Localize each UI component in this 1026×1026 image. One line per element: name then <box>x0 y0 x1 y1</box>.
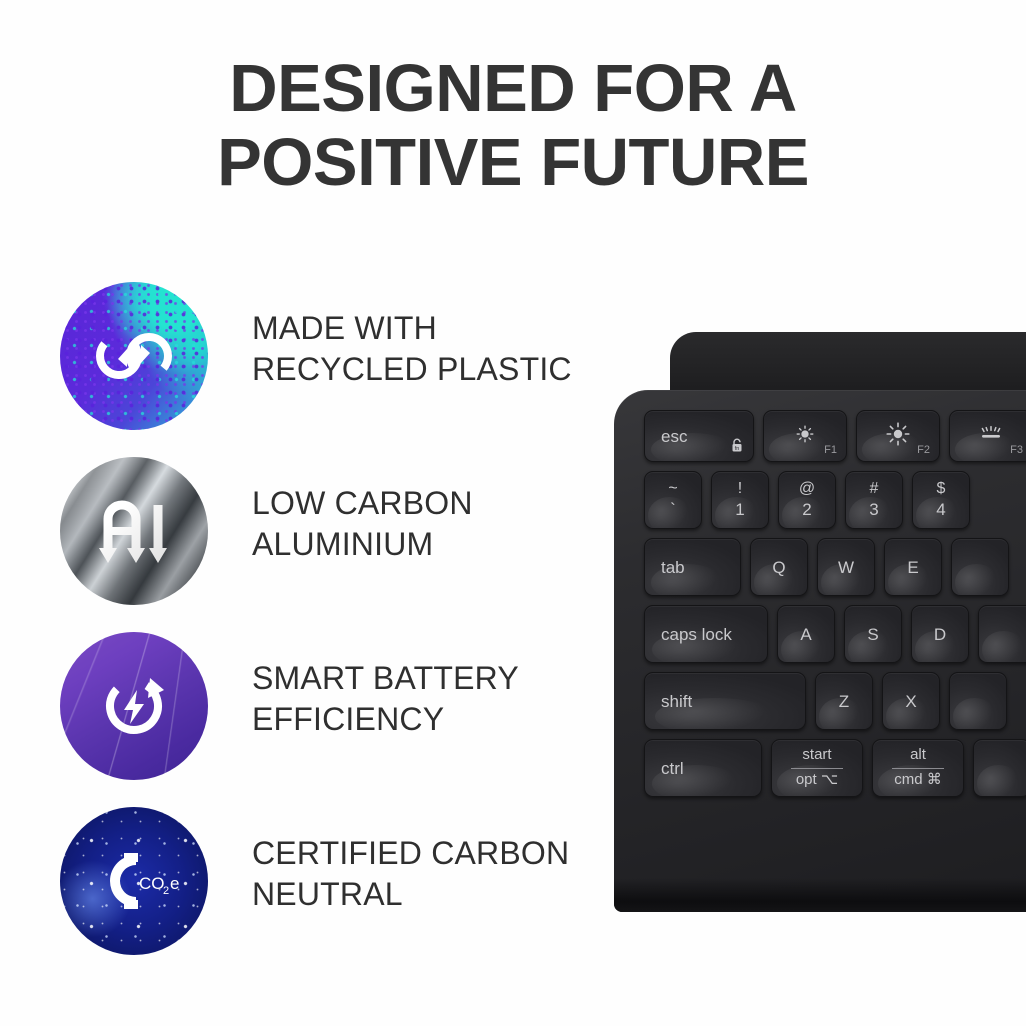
brightness-down-icon <box>794 423 816 450</box>
key-f3-backlight[interactable]: F3 <box>949 410 1026 462</box>
key-legend: 1 <box>735 501 744 519</box>
feature-label-recycled-plastic: MADE WITH RECYCLED PLASTIC <box>252 308 624 390</box>
key-caps-lock[interactable]: caps lock <box>644 605 768 663</box>
key-legend-shifted: @ <box>799 481 815 498</box>
key-legend: 3 <box>869 501 878 519</box>
key-1[interactable]: ! 1 <box>711 471 769 529</box>
key-ctrl[interactable]: ctrl <box>644 739 762 797</box>
key-a[interactable]: A <box>777 605 835 663</box>
key-legend-divider <box>892 768 944 769</box>
key-legend: tab <box>661 559 685 576</box>
feature-label-low-carbon-aluminium: LOW CARBON ALUMINIUM <box>252 483 624 565</box>
carbon-c-co2e-glyph: CO 2 e <box>60 807 208 955</box>
feature-item-recycled-plastic: MADE WITH RECYCLED PLASTIC <box>58 282 618 457</box>
low-carbon-aluminium-badge-icon <box>60 457 208 605</box>
key-legend-mac: opt ⌥ <box>796 771 838 790</box>
key-legend-windows: alt <box>910 746 926 767</box>
svg-text:CO: CO <box>139 874 165 893</box>
keyboard-product-image: esc fn <box>614 332 1026 912</box>
key-alt-cmd[interactable]: alt cmd ⌘ <box>872 739 964 797</box>
key-d[interactable]: D <box>911 605 969 663</box>
headline-line-1: DESIGNED FOR A <box>229 51 797 126</box>
key-partial-space[interactable] <box>973 739 1026 797</box>
key-tab[interactable]: tab <box>644 538 741 596</box>
key-highlight <box>955 564 998 596</box>
key-legend-windows: start <box>802 746 831 767</box>
key-partial-f[interactable] <box>978 605 1026 663</box>
key-legend: D <box>934 626 946 643</box>
backlight-icon <box>978 424 1004 449</box>
key-legend: S <box>867 626 878 643</box>
smart-battery-efficiency-badge-icon <box>60 632 208 780</box>
feature-label-line-2: RECYCLED PLASTIC <box>252 349 624 390</box>
feature-label-certified-carbon-neutral: CERTIFIED CARBON NEUTRAL <box>252 833 624 915</box>
feature-label-line-2: ALUMINIUM <box>252 524 624 565</box>
keyboard-key-rows: esc fn <box>644 410 1026 806</box>
key-fn-label: F2 <box>917 444 930 456</box>
key-fn-label: F3 <box>1010 444 1023 456</box>
feature-label-line-2: EFFICIENCY <box>252 699 624 740</box>
brightness-up-icon <box>885 421 911 452</box>
feature-label-line-1: LOW CARBON <box>252 485 473 521</box>
key-legend: A <box>800 626 811 643</box>
key-z[interactable]: Z <box>815 672 873 730</box>
key-s[interactable]: S <box>844 605 902 663</box>
key-legend: Z <box>839 693 849 710</box>
recycled-plastic-badge-icon <box>60 282 208 430</box>
key-2[interactable]: @ 2 <box>778 471 836 529</box>
key-legend-mac: cmd ⌘ <box>894 771 942 790</box>
svg-text:2: 2 <box>163 885 169 897</box>
feature-label-line-2: NEUTRAL <box>252 874 624 915</box>
key-legend: caps lock <box>661 626 732 643</box>
key-highlight <box>977 765 1020 797</box>
keyboard-row-function: esc fn <box>644 410 1026 462</box>
page-title: DESIGNED FOR A POSITIVE FUTURE <box>0 52 1026 200</box>
key-shift[interactable]: shift <box>644 672 806 730</box>
key-f2-brightness-up[interactable]: F2 <box>856 410 940 462</box>
key-fn-label: F1 <box>824 444 837 456</box>
key-legend: Q <box>772 559 785 576</box>
key-legend: shift <box>661 693 692 710</box>
feature-item-low-carbon-aluminium: LOW CARBON ALUMINIUM <box>58 457 618 632</box>
recycle-loop-glyph <box>60 282 208 430</box>
key-legend: X <box>905 693 916 710</box>
key-highlight <box>953 698 996 730</box>
keyboard-row-number: ~ ` ! 1 @ 2 <box>644 471 1026 529</box>
key-partial-c[interactable] <box>949 672 1007 730</box>
key-w[interactable]: W <box>817 538 875 596</box>
key-esc[interactable]: esc fn <box>644 410 754 462</box>
key-highlight <box>982 631 1025 663</box>
key-partial-r[interactable] <box>951 538 1009 596</box>
keyboard-row-qwerty: tab Q W E <box>644 538 1026 596</box>
key-e[interactable]: E <box>884 538 942 596</box>
key-legend-shifted: ~ <box>668 481 677 498</box>
feature-item-certified-carbon-neutral: CO 2 e CERTIFIED CARBON NEUTRAL <box>58 807 618 982</box>
aluminium-arrow-glyph <box>60 457 208 605</box>
feature-item-smart-battery-efficiency: SMART BATTERY EFFICIENCY <box>58 632 618 807</box>
key-legend: 4 <box>936 501 945 519</box>
svg-text:fn: fn <box>735 446 740 452</box>
keyboard-row-home: caps lock A S D <box>644 605 1026 663</box>
headline-line-2: POSITIVE FUTURE <box>0 126 1026 200</box>
product-marketing-image: DESIGNED FOR A POSITIVE FUTURE MADE WITH <box>0 0 1026 1026</box>
key-legend: 2 <box>802 501 811 519</box>
key-legend-shifted: ! <box>738 481 742 498</box>
key-3[interactable]: # 3 <box>845 471 903 529</box>
key-q[interactable]: Q <box>750 538 808 596</box>
feature-label-smart-battery-efficiency: SMART BATTERY EFFICIENCY <box>252 658 624 740</box>
sustainability-feature-list: MADE WITH RECYCLED PLASTIC <box>58 282 618 982</box>
fn-lock-icon: fn <box>730 438 744 456</box>
svg-text:e: e <box>170 874 179 893</box>
key-legend: ` <box>670 501 676 519</box>
key-backtick[interactable]: ~ ` <box>644 471 702 529</box>
key-x[interactable]: X <box>882 672 940 730</box>
key-4[interactable]: $ 4 <box>912 471 970 529</box>
keyboard-row-shift: shift Z X <box>644 672 1026 730</box>
key-f1-brightness-down[interactable]: F1 <box>763 410 847 462</box>
key-legend-divider <box>791 768 843 769</box>
key-start-opt[interactable]: start opt ⌥ <box>771 739 863 797</box>
key-legend-shifted: $ <box>937 481 946 498</box>
key-legend: W <box>838 559 854 576</box>
certified-carbon-neutral-badge-icon: CO 2 e <box>60 807 208 955</box>
feature-label-line-1: MADE WITH <box>252 310 437 346</box>
feature-label-line-1: CERTIFIED CARBON <box>252 835 569 871</box>
key-legend: esc <box>661 428 687 445</box>
feature-label-line-1: SMART BATTERY <box>252 660 519 696</box>
key-legend: E <box>907 559 918 576</box>
key-legend-shifted: # <box>870 481 879 498</box>
keyboard-row-modifier: ctrl start opt ⌥ alt cmd ⌘ <box>644 739 1026 797</box>
battery-refresh-bolt-glyph <box>60 632 208 780</box>
key-legend: ctrl <box>661 760 684 777</box>
